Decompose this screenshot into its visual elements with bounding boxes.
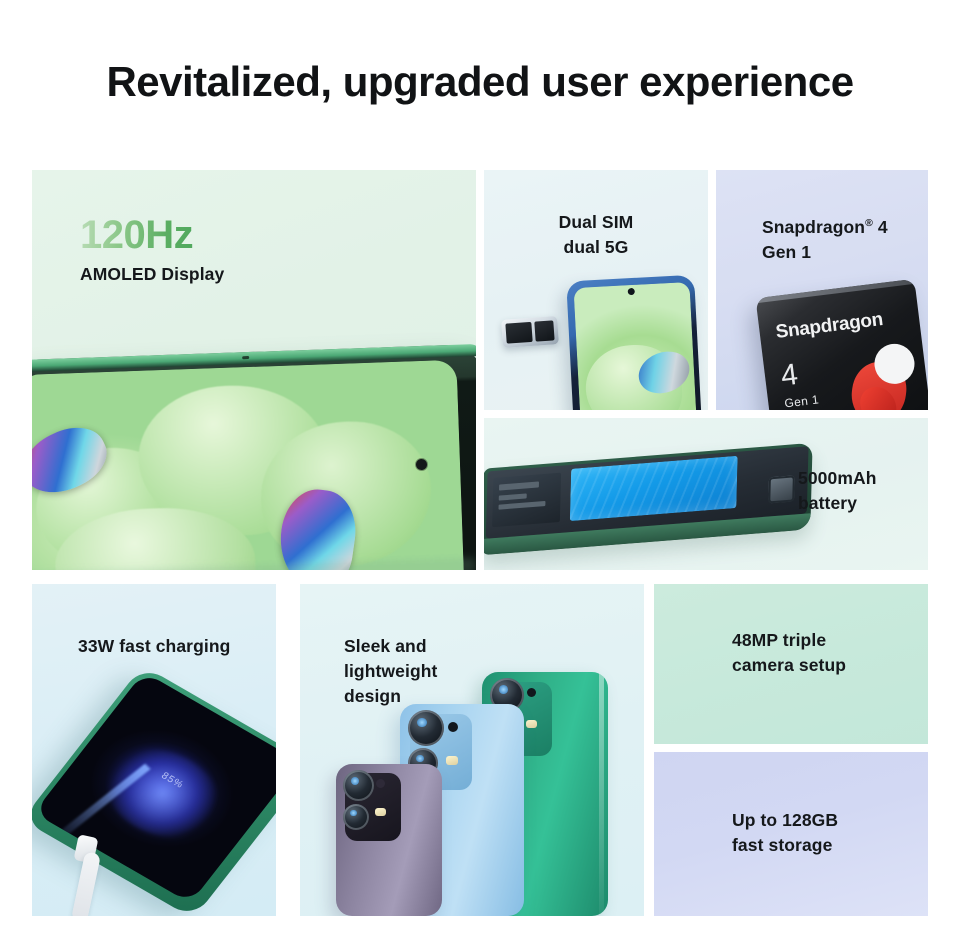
feature-card-dual-sim[interactable]: Dual SIM dual 5G	[484, 170, 708, 410]
earpiece-icon	[242, 356, 249, 359]
camera-lens	[343, 770, 374, 801]
camera-sensor	[527, 688, 536, 697]
snapdragon-dragon-logo-icon	[842, 337, 926, 410]
feature-card-battery[interactable]: 5000mAh battery	[484, 418, 928, 570]
feature-card-fast-charging[interactable]: 33W fast charging 85%	[32, 584, 276, 916]
camera-sensor	[448, 722, 458, 732]
sim-tray-image	[501, 316, 559, 348]
battery-title: 5000mAh battery	[798, 466, 877, 516]
chip-generation-number: 4Gen 1	[779, 358, 819, 410]
battery-heading: 5000mAh battery	[798, 466, 877, 516]
camera-title: 48MP triple camera setup	[732, 628, 846, 678]
camera-flash-icon	[526, 720, 537, 728]
storage-heading: Up to 128GB fast storage	[732, 808, 838, 858]
design-heading: Sleek and lightweight design	[344, 634, 437, 709]
camera-flash-icon	[375, 808, 386, 816]
camera-module	[768, 475, 795, 503]
charging-heading: 33W fast charging	[78, 634, 230, 659]
battery-cutaway-image	[484, 443, 813, 555]
storage-title: Up to 128GB fast storage	[732, 808, 838, 858]
feature-card-storage[interactable]: Up to 128GB fast storage	[654, 752, 928, 916]
sim-card-slot	[534, 320, 554, 341]
dual-sim-phone-image	[566, 275, 702, 410]
charging-phone-image: 85%	[32, 665, 276, 916]
processor-heading: Snapdragon® 4 Gen 1	[762, 215, 922, 265]
phone-screen	[574, 282, 697, 410]
hero-phone-image	[32, 344, 476, 570]
page-title: Revitalized, upgraded user experience	[0, 58, 960, 106]
display-type-label: AMOLED Display	[80, 264, 224, 285]
feature-card-display[interactable]: 120Hz AMOLED Display	[32, 170, 476, 570]
snapdragon-chip-image: Snapdragon 4Gen 1	[755, 279, 928, 410]
display-card-heading: 120Hz AMOLED Display	[80, 215, 224, 285]
camera-flash-icon	[446, 756, 458, 765]
camera-sensor	[376, 779, 385, 788]
battery-cell	[570, 456, 738, 522]
phone-screen: 85%	[34, 672, 276, 903]
charging-cable	[71, 851, 101, 916]
dual-sim-title: Dual SIM dual 5G	[484, 210, 708, 260]
sim-card-slot	[505, 322, 532, 344]
camera-lens	[408, 710, 444, 746]
phone-purple	[336, 764, 442, 916]
feature-card-design[interactable]: Sleek and lightweight design	[300, 584, 644, 916]
design-title: Sleek and lightweight design	[344, 634, 437, 709]
camera-heading: 48MP triple camera setup	[732, 628, 846, 678]
processor-title: Snapdragon® 4 Gen 1	[762, 215, 922, 265]
feature-card-camera[interactable]: 48MP triple camera setup	[654, 584, 928, 744]
chip-brand-label: Snapdragon	[775, 309, 885, 344]
charging-title: 33W fast charging	[78, 634, 230, 659]
dual-sim-heading: Dual SIM dual 5G	[484, 210, 708, 260]
feature-card-processor[interactable]: Snapdragon® 4 Gen 1 Snapdragon 4Gen 1	[716, 170, 928, 410]
display-refresh-rate: 120Hz	[80, 215, 224, 255]
mainboard	[492, 472, 561, 527]
phone-screen	[32, 360, 464, 570]
camera-lens	[343, 804, 369, 830]
product-feature-page: Revitalized, upgraded user experience 12…	[0, 0, 960, 949]
